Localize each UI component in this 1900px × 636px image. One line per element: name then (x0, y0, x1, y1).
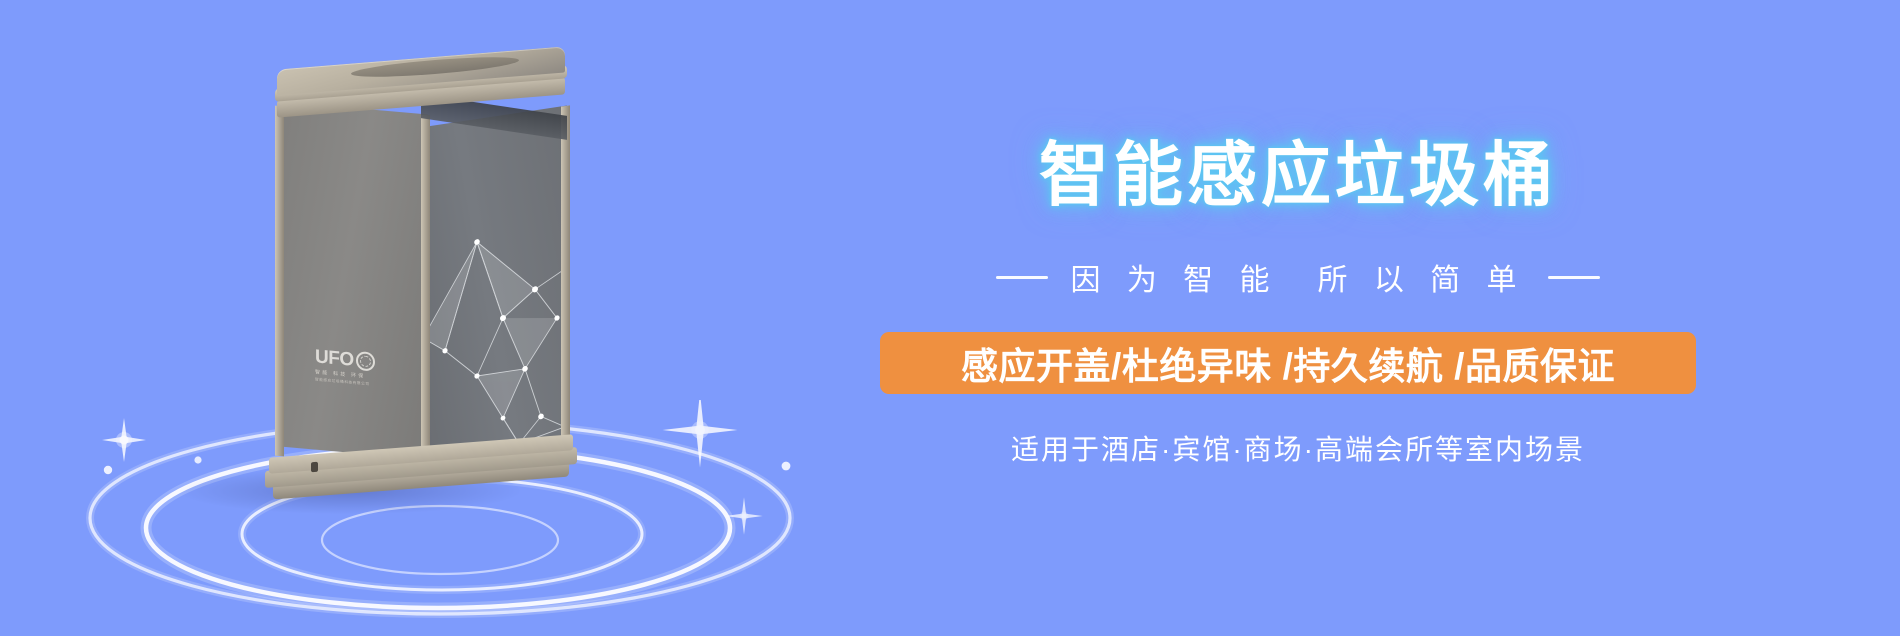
subline: 因 为 智 能 所 以 简 单 (880, 255, 1716, 299)
bin-corner-pillar-center (421, 115, 430, 465)
brand-logo-letters: UFO (315, 347, 354, 369)
feature-badge-text: 感应开盖/杜绝异味 /持久续航 /品质保证 (961, 336, 1615, 390)
circle-ring-icon (356, 351, 375, 372)
bin-left-face (280, 102, 428, 460)
bin-corner-pillar-right (561, 105, 570, 456)
polygon-network-pattern-icon (427, 212, 567, 466)
subline-text: 因 为 智 能 所 以 简 单 (1070, 255, 1525, 299)
bin-corner-pillar-left (275, 106, 284, 457)
headline: 智能感应垃圾桶 (880, 140, 1716, 210)
bin-base-keyhole (311, 462, 318, 473)
product-stage: UFO 智能 科技 环保 智能感应垃圾桶科技有限公司 (0, 0, 880, 636)
tagline: 适用于酒店·宾馆·商场·高端会所等室内场景 (880, 428, 1716, 468)
brand-logo-row: UFO (315, 347, 375, 371)
subline-rule-right (1548, 276, 1600, 279)
subline-rule-left (996, 276, 1048, 279)
product-banner: UFO 智能 科技 环保 智能感应垃圾桶科技有限公司 智能感应垃圾桶 因 为 智… (0, 0, 1900, 636)
trash-can-product: UFO 智能 科技 环保 智能感应垃圾桶科技有限公司 (255, 58, 585, 478)
bin-right-face (427, 106, 567, 472)
feature-badge: 感应开盖/杜绝异味 /持久续航 /品质保证 (880, 332, 1696, 394)
banner-text-column: 智能感应垃圾桶 因 为 智 能 所 以 简 单 感应开盖/杜绝异味 /持久续航 … (880, 0, 1900, 636)
brand-logo: UFO 智能 科技 环保 智能感应垃圾桶科技有限公司 (315, 347, 375, 388)
